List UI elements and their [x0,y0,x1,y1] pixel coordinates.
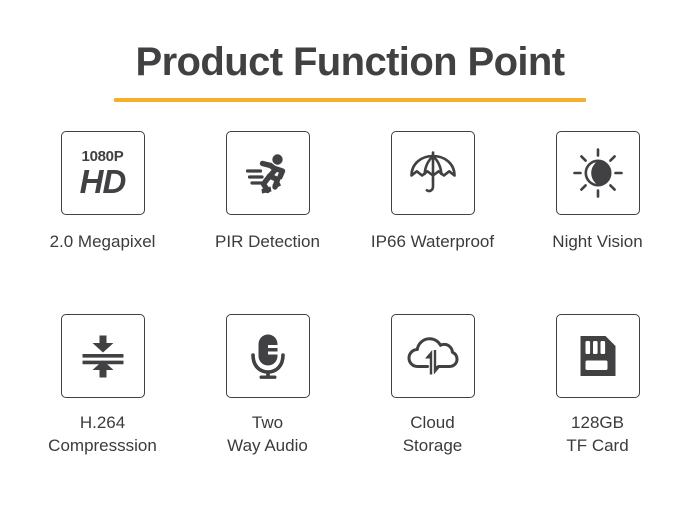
feature-label: H.264 Compresssion [48,411,157,457]
feature-item-pir-detection: PIR Detection [185,131,350,253]
feature-label: Night Vision [552,230,642,253]
compression-arrows-icon [61,314,145,398]
hd-text-block: 1080P HD [80,149,126,198]
feature-row: 1080P HD 2.0 Megapixel [0,131,700,253]
feature-item-compression: H.264 Compresssion [20,314,185,457]
microphone-icon [226,314,310,398]
feature-item-tf-card: 128GB TF Card [515,314,680,457]
feature-item-night-vision: Night Vision [515,131,680,253]
page-header: Product Function Point [0,0,700,102]
title-accent-rule [114,98,586,102]
feature-label: PIR Detection [215,230,320,253]
feature-label: 128GB TF Card [566,411,628,457]
cloud-upload-download-icon [391,314,475,398]
sun-moon-night-vision-icon [556,131,640,215]
hd-label-text: HD [80,165,126,198]
feature-item-two-way-audio: Two Way Audio [185,314,350,457]
feature-item-megapixel: 1080P HD 2.0 Megapixel [20,131,185,253]
feature-item-waterproof: IP66 Waterproof [350,131,515,253]
feature-label: 2.0 Megapixel [50,230,156,253]
running-man-motion-icon [226,131,310,215]
page-title: Product Function Point [0,0,700,86]
memory-card-icon [556,314,640,398]
feature-grid: 1080P HD 2.0 Megapixel [0,131,700,457]
feature-item-cloud-storage: Cloud Storage [350,314,515,457]
hd-resolution-text: 1080P [82,149,124,164]
feature-label: IP66 Waterproof [371,230,494,253]
feature-label: Two Way Audio [227,411,308,457]
feature-row: H.264 Compresssion Two Wa [0,314,700,457]
hd-1080p-icon: 1080P HD [61,131,145,215]
feature-label: Cloud Storage [403,411,463,457]
umbrella-icon [391,131,475,215]
